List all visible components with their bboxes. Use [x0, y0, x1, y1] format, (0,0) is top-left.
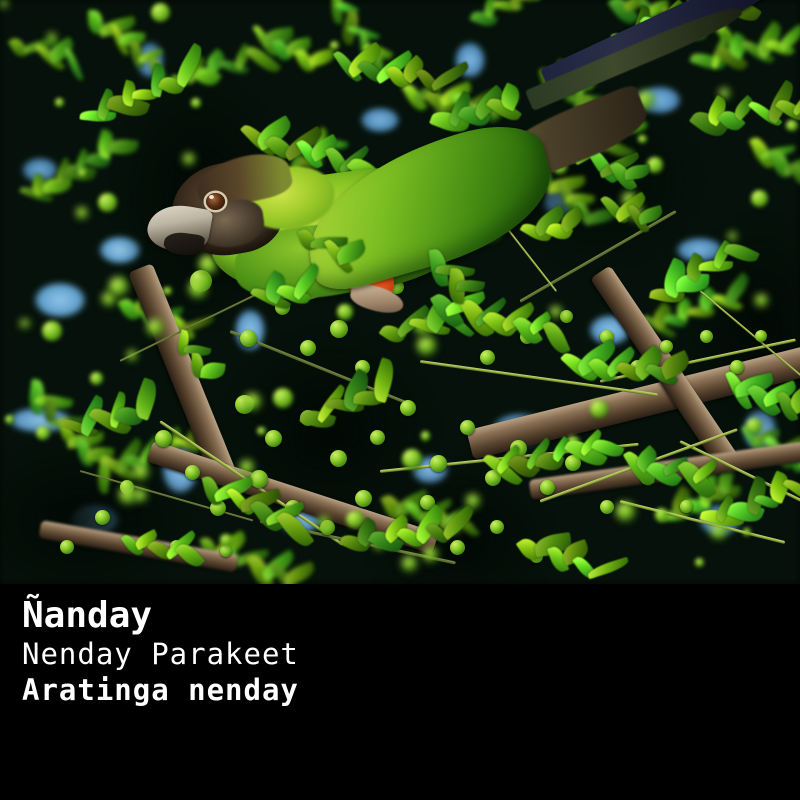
berry	[0, 0, 8, 8]
berry	[695, 558, 705, 568]
berry	[151, 3, 170, 22]
bird-photograph	[0, 0, 800, 584]
berry	[700, 330, 713, 343]
berry	[370, 430, 385, 445]
scientific-name-title: Aratinga nenday	[22, 672, 299, 708]
berry	[220, 545, 232, 557]
berry	[711, 524, 727, 540]
berry	[680, 500, 693, 513]
berry	[728, 232, 736, 240]
berry	[42, 321, 61, 340]
berry	[273, 388, 293, 408]
berry	[786, 120, 797, 131]
berry	[20, 319, 30, 329]
berry	[423, 547, 438, 562]
common-name-title: Ñanday	[22, 596, 299, 636]
berry	[134, 489, 147, 502]
nanday-parakeet	[150, 105, 670, 365]
berry	[60, 540, 74, 554]
berry	[240, 460, 254, 474]
berry	[55, 98, 63, 106]
berry	[127, 350, 137, 360]
bird-eye	[206, 193, 225, 210]
berry	[257, 427, 266, 436]
berry	[98, 193, 117, 212]
berry	[244, 393, 261, 410]
berry	[755, 294, 768, 307]
photo-card: Ñanday Nenday Parakeet Aratinga nenday C…	[0, 0, 800, 800]
berry	[220, 534, 232, 546]
berry	[430, 455, 447, 472]
berry	[330, 450, 347, 467]
berry	[402, 449, 422, 469]
berry	[78, 169, 86, 177]
berry	[751, 190, 768, 207]
berry	[590, 400, 608, 418]
berry	[755, 330, 767, 342]
english-name-title: Nenday Parakeet	[22, 636, 299, 672]
berry	[655, 508, 668, 521]
berry	[540, 480, 555, 495]
species-title-block: Ñanday Nenday Parakeet Aratinga nenday	[22, 596, 299, 708]
bird-lower-mandible	[163, 230, 206, 257]
berry	[47, 33, 57, 43]
berry	[743, 528, 751, 536]
berry	[95, 510, 110, 525]
berry	[155, 430, 172, 447]
berry	[265, 430, 282, 447]
berry	[90, 372, 103, 385]
berry	[330, 41, 339, 50]
berry	[450, 540, 465, 555]
berry	[460, 420, 475, 435]
info-panel: Ñanday Nenday Parakeet Aratinga nenday C…	[0, 584, 800, 800]
berry	[490, 520, 504, 534]
berry	[600, 500, 614, 514]
berry	[109, 277, 127, 295]
berry	[400, 400, 416, 416]
berry	[185, 465, 200, 480]
berry	[355, 490, 372, 507]
berry	[250, 470, 268, 488]
